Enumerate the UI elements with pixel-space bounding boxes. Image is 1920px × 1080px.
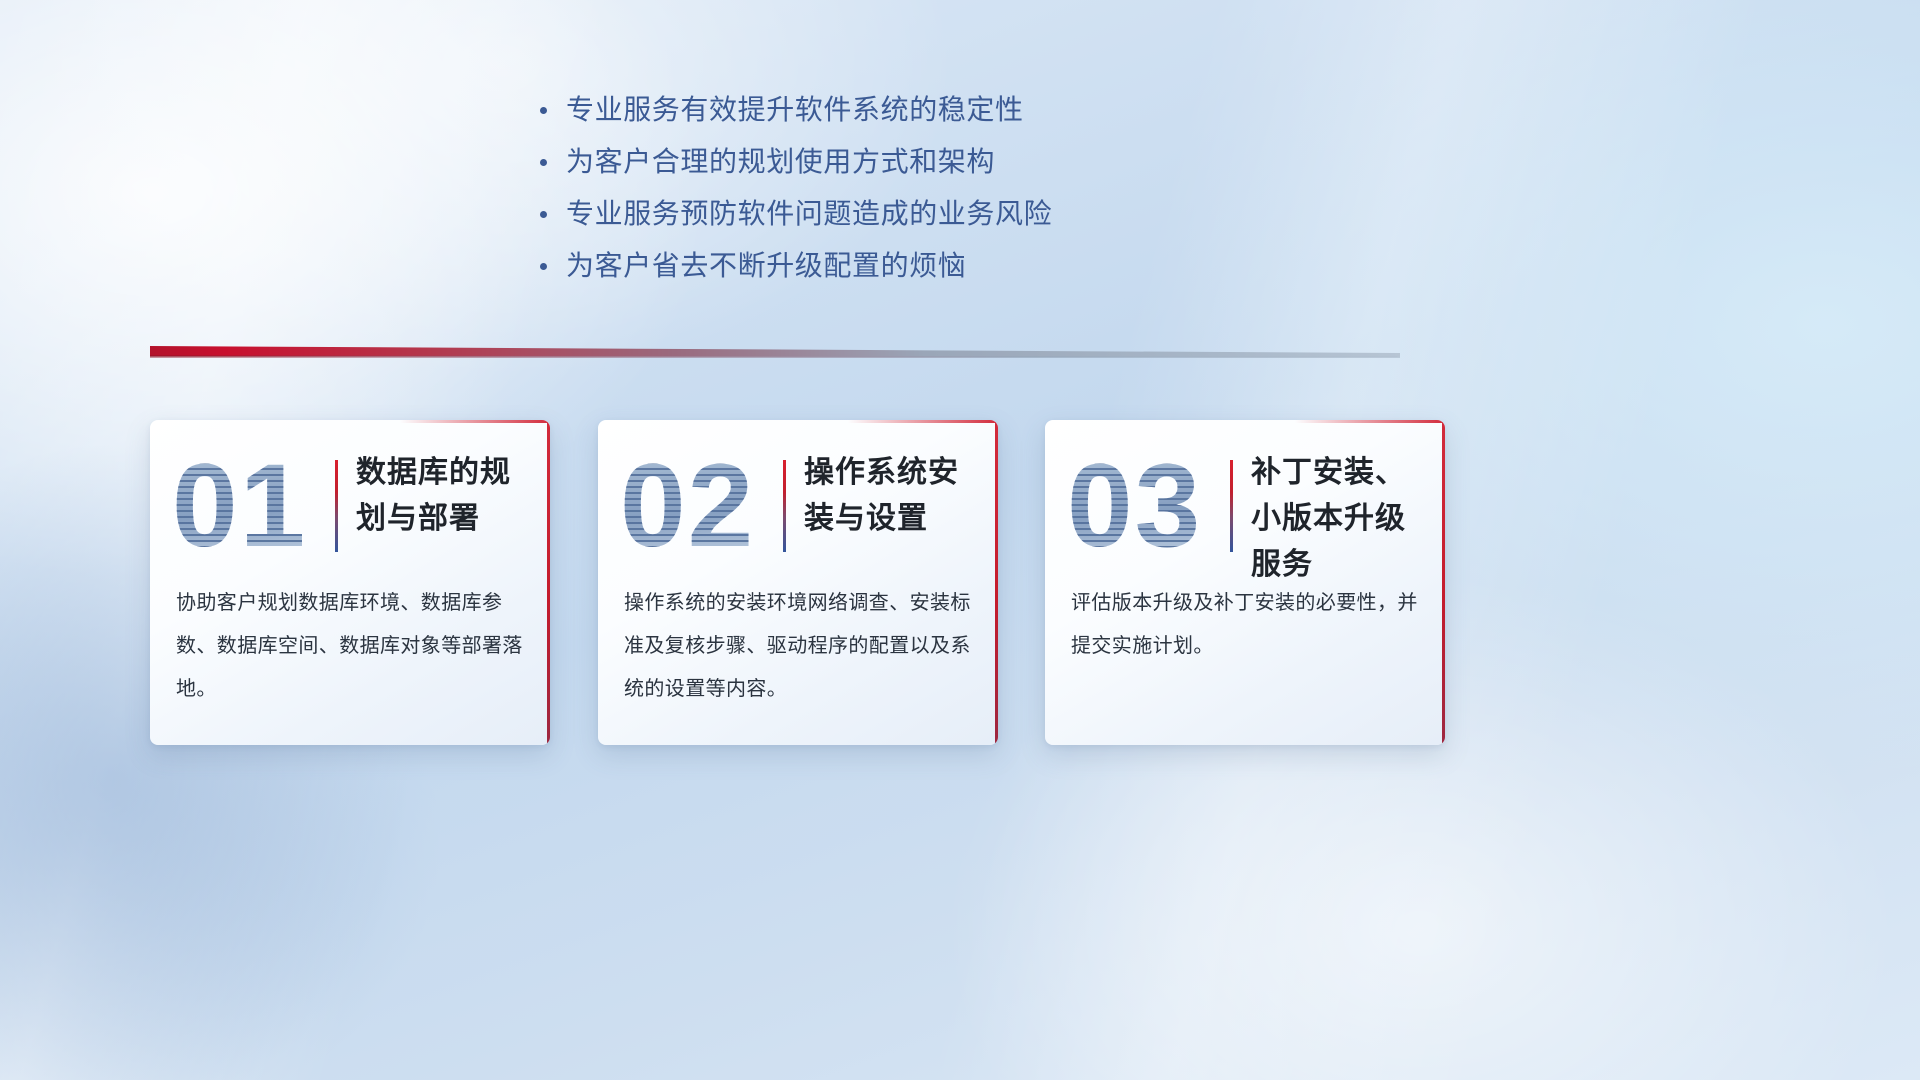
bullet-dot-icon [540,152,566,172]
card-header: 01 数据库的规划与部署 [150,438,550,578]
list-item: 专业服务有效提升软件系统的稳定性 [540,88,1300,140]
bullet-list: 专业服务有效提升软件系统的稳定性 为客户合理的规划使用方式和架构 专业服务预防软… [540,88,1300,296]
card-title: 补丁安装、小版本升级服务 [1251,450,1433,588]
card-header: 03 补丁安装、小版本升级服务 [1045,438,1445,578]
card-title-rule [783,460,786,552]
list-item: 为客户合理的规划使用方式和架构 [540,140,1300,192]
card-number-text: 03 [1067,444,1202,569]
card-body-text: 协助客户规划数据库环境、数据库参数、数据库空间、数据库对象等部署落地。 [176,582,526,711]
slide-canvas: 专业服务有效提升软件系统的稳定性 为客户合理的规划使用方式和架构 专业服务预防软… [0,0,1920,1080]
card-title-rule [1230,460,1233,552]
bullet-dot-icon [540,204,566,224]
bullet-text: 为客户合理的规划使用方式和架构 [566,140,995,180]
card-title-rule [335,460,338,552]
card-number-watermark: 02 [620,444,770,569]
card-row: 01 数据库的规划与部署 协助客户规划数据库环境、数据库参数、数据库空间、数据库… [150,420,1450,750]
card-accent-top [848,420,998,423]
card-accent-top [400,420,550,423]
bullet-text: 为客户省去不断升级配置的烦恼 [566,244,966,284]
bullet-dot-icon [540,100,566,120]
card-body-text: 操作系统的安装环境网络调查、安装标准及复核步骤、驱动程序的配置以及系统的设置等内… [624,582,974,711]
card-number-text: 02 [620,444,755,569]
bullet-text: 专业服务有效提升软件系统的稳定性 [566,88,1024,128]
card-header: 02 操作系统安装与设置 [598,438,998,578]
card-number-watermark: 03 [1067,444,1217,569]
card-accent-top [1295,420,1445,423]
card-title: 数据库的规划与部署 [356,450,538,542]
card-body-text: 评估版本升级及补丁安装的必要性，并提交实施计划。 [1071,582,1421,668]
bullet-text: 专业服务预防软件问题造成的业务风险 [566,192,1052,232]
info-card[interactable]: 02 操作系统安装与设置 操作系统的安装环境网络调查、安装标准及复核步骤、驱动程… [598,420,998,745]
bullet-dot-icon [540,256,566,276]
info-card[interactable]: 01 数据库的规划与部署 协助客户规划数据库环境、数据库参数、数据库空间、数据库… [150,420,550,745]
list-item: 为客户省去不断升级配置的烦恼 [540,244,1300,296]
list-item: 专业服务预防软件问题造成的业务风险 [540,192,1300,244]
info-card[interactable]: 03 补丁安装、小版本升级服务 评估版本升级及补丁安装的必要性，并提交实施计划。 [1045,420,1445,745]
card-number-watermark: 01 [172,444,322,569]
card-number-text: 01 [172,444,307,569]
card-title: 操作系统安装与设置 [804,450,986,542]
gradient-divider-bar [150,344,1400,364]
